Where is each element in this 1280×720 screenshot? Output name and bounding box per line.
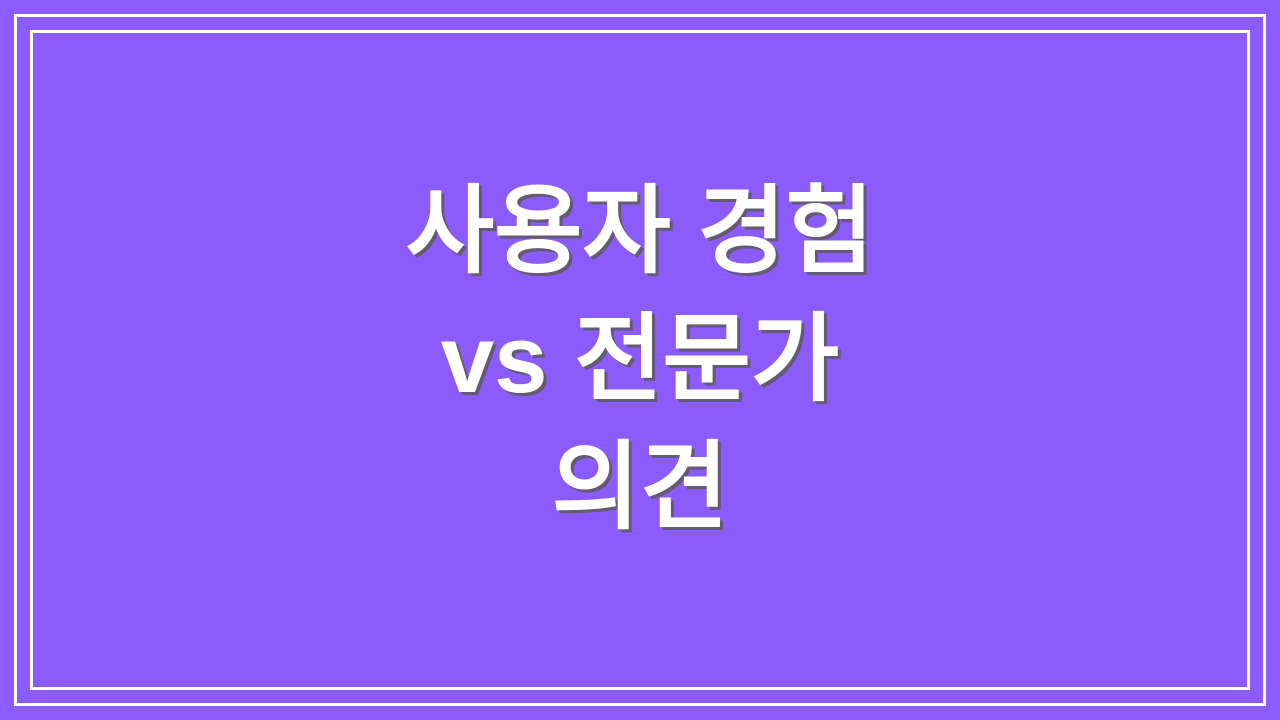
title-line-1: 사용자 경험: [406, 168, 874, 296]
title-slide: 사용자 경험 vs 전문가 의견: [0, 0, 1280, 720]
title-line-2: vs 전문가: [441, 296, 839, 424]
title-line-3: 의견: [552, 424, 729, 552]
title-block: 사용자 경험 vs 전문가 의견: [0, 0, 1280, 720]
